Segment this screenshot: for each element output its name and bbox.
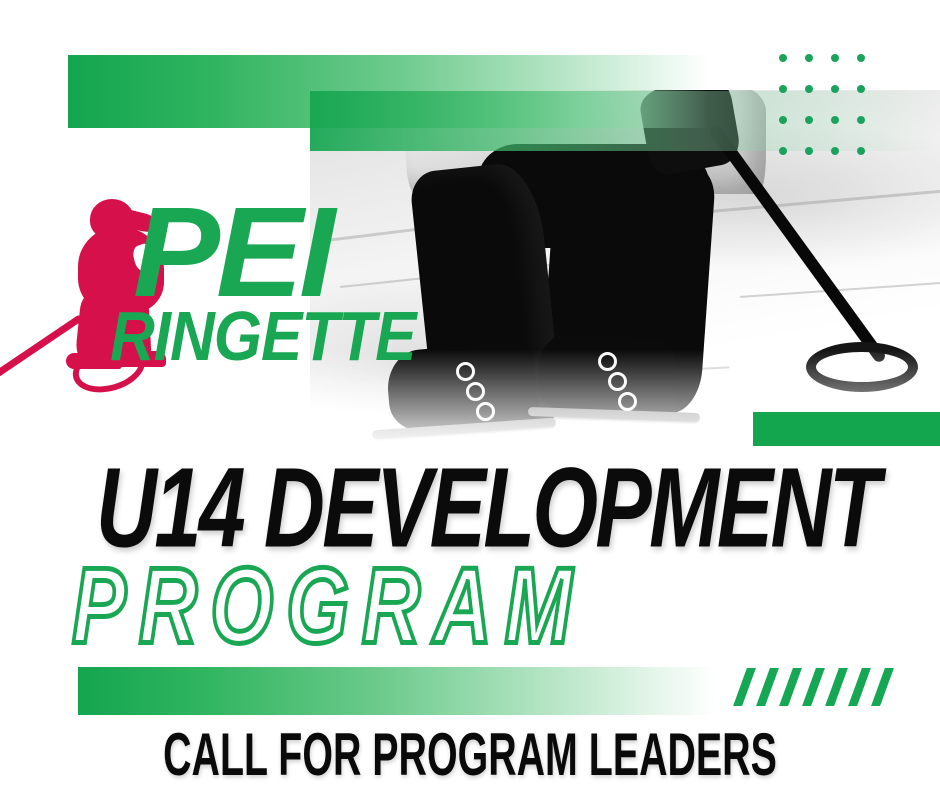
skate-lace-eyelet — [618, 392, 637, 411]
grid-dot — [805, 116, 813, 124]
player-back-leg — [539, 155, 716, 416]
diagonal-slash-icon — [848, 668, 871, 706]
grid-dot — [805, 54, 813, 62]
skate-lace-eyelet — [456, 362, 475, 381]
logo-helmet — [90, 199, 134, 239]
grid-dot — [831, 54, 839, 62]
skate-lace-eyelet — [608, 372, 627, 391]
diagonal-slash-icon — [756, 668, 779, 706]
pei-ringette-logo: PEI RINGETTE — [0, 195, 300, 395]
poster-canvas: PEI RINGETTE U14 DEVELOPMENT PROGRAM CAL… — [0, 0, 940, 788]
skate-blade-left — [372, 418, 556, 440]
logo-text-ringette: RINGETTE — [110, 303, 415, 372]
grid-dot — [831, 116, 839, 124]
diagonal-slash-icon — [871, 668, 894, 706]
grid-dot — [857, 116, 865, 124]
skate-lace-eyelet — [598, 352, 617, 371]
diagonal-slash-icon — [733, 668, 756, 706]
grid-dot — [779, 147, 787, 155]
ringette-ring — [806, 342, 918, 392]
grid-dot — [857, 85, 865, 93]
ice-line — [430, 366, 730, 384]
grid-dot — [779, 85, 787, 93]
grid-dot — [831, 85, 839, 93]
grid-dot — [805, 85, 813, 93]
diagonal-slash-icon — [802, 668, 825, 706]
grid-dot — [857, 54, 865, 62]
grid-dot — [857, 147, 865, 155]
grid-dot — [831, 147, 839, 155]
diagonal-slash-icon — [825, 668, 848, 706]
right-green-block — [753, 412, 940, 446]
grid-dot — [779, 116, 787, 124]
poster-tagline: CALL FOR PROGRAM LEADERS — [85, 726, 856, 786]
skate-blade-right — [528, 407, 700, 422]
skate-lace-eyelet — [476, 402, 495, 421]
diagonal-slash-icon — [779, 668, 802, 706]
diagonal-slash-icon-group — [740, 668, 887, 706]
grid-dot — [805, 147, 813, 155]
bottom-gradient-bar — [78, 667, 716, 715]
page-subtitle: PROGRAM — [72, 552, 585, 659]
grid-dot — [779, 54, 787, 62]
skate-lace-eyelet — [466, 382, 485, 401]
player-skate-right — [536, 332, 678, 417]
dot-grid-icon — [779, 54, 883, 178]
